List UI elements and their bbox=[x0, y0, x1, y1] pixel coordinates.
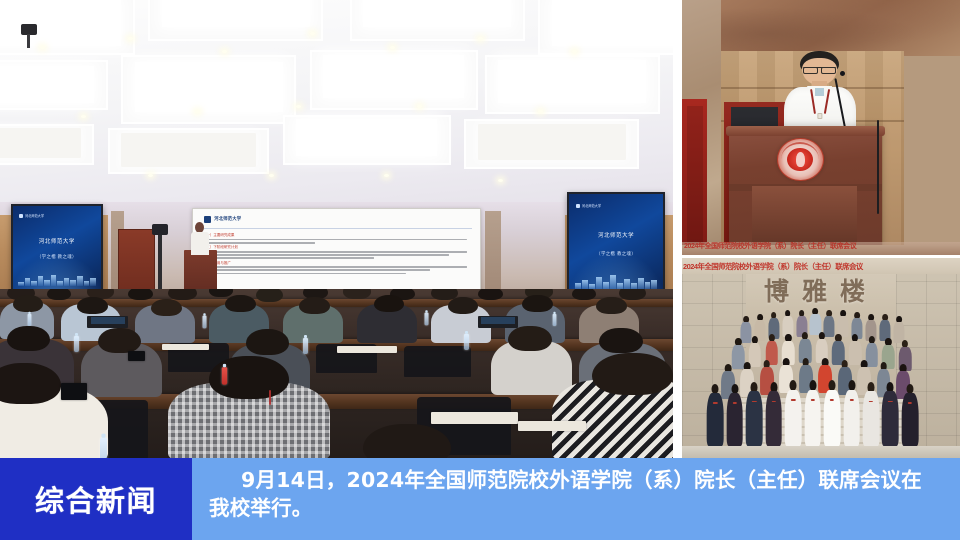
ceiling-light-panel bbox=[135, 62, 283, 112]
water-bottle bbox=[552, 314, 556, 326]
lanyard bbox=[269, 390, 271, 405]
photo-speaker-at-podium: 2024年全国师范院校外语学院（系）院长（主任）联席会议 bbox=[682, 0, 960, 255]
ceiling-spotlight bbox=[478, 37, 483, 40]
chair bbox=[404, 346, 471, 377]
ceiling-spotlight bbox=[384, 174, 389, 177]
audience-member-head bbox=[246, 329, 290, 354]
university-emblem-icon bbox=[777, 138, 824, 181]
audience-member bbox=[572, 289, 596, 301]
group-member-front-row bbox=[882, 382, 899, 444]
paper-document bbox=[162, 344, 209, 350]
screenshot-root: 河北师范大学 （一）主要研究成果 （二）下阶段研究计划 （三）应用与推广 bbox=[0, 0, 960, 540]
ceiling-light-panel bbox=[552, 0, 673, 46]
water-bottle bbox=[424, 312, 428, 325]
audience-member-head bbox=[592, 353, 673, 395]
water-bottle bbox=[28, 314, 32, 326]
audience-member-head bbox=[98, 328, 142, 353]
ceiling-spotlight bbox=[310, 32, 315, 35]
group-member-front-row bbox=[726, 384, 743, 444]
led-screen-left: 河北师范大学 河北师范大学 （学之楷 教之魂） bbox=[11, 204, 103, 293]
emblem-center-device bbox=[787, 148, 812, 171]
audience-seating-area bbox=[0, 289, 673, 458]
led-subtitle: （学之楷 教之魂） bbox=[13, 254, 101, 260]
audience-member bbox=[256, 289, 283, 303]
audience-member bbox=[47, 289, 71, 301]
red-door-frame-far bbox=[682, 99, 707, 255]
ceiling-light-panel bbox=[323, 55, 464, 99]
group-member-front-row bbox=[785, 380, 802, 444]
audience-member-head bbox=[374, 295, 405, 312]
photo-conference-hall: 河北师范大学 （一）主要研究成果 （二）下阶段研究计划 （三）应用与推广 bbox=[0, 0, 673, 458]
slide-text-line bbox=[203, 254, 449, 256]
marble-wall-upper bbox=[721, 0, 960, 56]
group-member-front-row bbox=[824, 380, 841, 444]
ceiling-spotlight bbox=[195, 110, 200, 113]
led-logo-icon bbox=[19, 214, 23, 218]
slide-logo-text: 河北师范大学 bbox=[214, 216, 241, 222]
water-bottle bbox=[74, 336, 79, 352]
slide-divider bbox=[201, 228, 471, 229]
ceiling-light-panel bbox=[0, 66, 94, 103]
audience-member-head bbox=[522, 295, 553, 312]
led-decorative-bars bbox=[18, 272, 96, 286]
audience-member-head bbox=[0, 363, 61, 404]
led-logo-text: 河北师范大学 bbox=[25, 213, 44, 218]
photo-group-on-steps: 博雅楼 2024年全国师范院校外语学院（系）院长（主任）联席会议 bbox=[682, 258, 960, 458]
group-member-front-row bbox=[765, 382, 782, 444]
audience-member bbox=[343, 289, 371, 299]
slide-text-line bbox=[203, 269, 430, 271]
ceiling-light-panel bbox=[0, 128, 81, 158]
news-category-tag: 综合新闻 bbox=[0, 458, 192, 540]
beverage-cup bbox=[222, 367, 228, 385]
led-logo-text: 河北师范大学 bbox=[582, 203, 601, 208]
led-logo: 河北师范大学 bbox=[19, 213, 44, 218]
caption-line-1-text: 9月14日，2024年全国师范院校外语学院（系）院长（主任）联席会议在 bbox=[241, 468, 922, 492]
ceiling-light-panel bbox=[0, 0, 121, 46]
led-screen-right: 河北师范大学 河北师范大学 （学之楷 教之魂） bbox=[567, 192, 665, 297]
plaza-floor bbox=[682, 446, 960, 458]
slide-text-line bbox=[203, 242, 315, 244]
photo-collage: 河北师范大学 （一）主要研究成果 （二）下阶段研究计划 （三）应用与推广 bbox=[0, 0, 960, 458]
audience-member-head bbox=[209, 356, 290, 398]
water-bottle bbox=[303, 338, 308, 354]
slide-text-line bbox=[203, 251, 468, 253]
presenter-body bbox=[191, 232, 210, 256]
audience-member bbox=[209, 289, 233, 297]
caption-line-1: 9月14日，2024年全国师范院校外语学院（系）院长（主任）联席会议在 bbox=[209, 467, 940, 495]
ceiling-light-panel bbox=[478, 124, 626, 161]
laptop bbox=[478, 316, 518, 328]
ceiling-spotlight bbox=[81, 115, 86, 118]
microphone-cable bbox=[877, 120, 879, 214]
audience-member-head bbox=[13, 295, 43, 312]
group-member bbox=[838, 310, 849, 336]
led-title: 河北师范大学 bbox=[569, 231, 663, 239]
group-member-front-row bbox=[746, 382, 763, 444]
audience-member-head bbox=[448, 297, 479, 314]
water-bottle bbox=[202, 316, 206, 329]
led-decorative-bars bbox=[575, 273, 657, 289]
ceiling-projector-icon bbox=[21, 24, 37, 35]
led-subtitle: （学之楷 教之魂） bbox=[569, 251, 663, 257]
laptop bbox=[87, 316, 127, 328]
led-title: 河北师范大学 bbox=[13, 237, 101, 245]
slide-text-line bbox=[203, 273, 406, 275]
audience-member-head bbox=[599, 328, 643, 353]
led-logo: 河北师范大学 bbox=[576, 203, 601, 208]
water-bottle bbox=[100, 438, 107, 458]
paper-document bbox=[518, 421, 585, 431]
slide-text-line bbox=[203, 266, 468, 268]
group-member-front-row bbox=[843, 380, 860, 444]
bottom-banner-text: 2024年全国师范院校外语学院（系）院长（主任）联席会议 bbox=[684, 242, 856, 251]
event-banner-text: 2024年全国师范院校外语学院（系）院长（主任）联席会议 bbox=[682, 261, 863, 272]
ceiling-light-panel bbox=[498, 60, 646, 104]
building-calligraphy: 博雅楼 bbox=[682, 272, 960, 308]
bottom-banner-strip: 2024年全国师范院校外语学院（系）院长（主任）联席会议 bbox=[682, 242, 960, 255]
caption-bar: 综合新闻 9月14日，2024年全国师范院校外语学院（系）院长（主任）联席会议在… bbox=[0, 458, 960, 540]
podium-top-edge bbox=[726, 126, 884, 136]
smartphone bbox=[128, 351, 145, 361]
led-logo-icon bbox=[576, 204, 580, 208]
group-member-front-row bbox=[902, 384, 919, 444]
audience-member-head bbox=[151, 299, 182, 316]
camera-tripod bbox=[158, 229, 161, 298]
group-member-front-row bbox=[804, 380, 821, 444]
ceiling-light-panel bbox=[162, 0, 310, 27]
audience-member-head bbox=[508, 326, 552, 351]
collar-shadow bbox=[815, 88, 824, 96]
ceiling-spotlight bbox=[498, 179, 503, 182]
audience-member-head bbox=[7, 326, 51, 351]
group-member-front-row bbox=[863, 382, 880, 444]
ceiling-light-panel bbox=[121, 133, 256, 167]
audience-member-head bbox=[299, 297, 330, 314]
paper-document bbox=[431, 412, 518, 424]
group-member bbox=[879, 314, 890, 340]
slide-section-heading: （三）应用与推广 bbox=[203, 261, 470, 266]
caption-body: 9月14日，2024年全国师范院校外语学院（系）院长（主任）联席会议在 我校举行… bbox=[192, 458, 960, 540]
audience-member-head bbox=[225, 295, 256, 312]
slide-body: （一）主要研究成果 （二）下阶段研究计划 （三）应用与推广 bbox=[203, 231, 470, 275]
group-member bbox=[782, 310, 793, 336]
caption-line-2: 我校举行。 bbox=[209, 495, 940, 523]
eyeglasses-icon bbox=[803, 67, 836, 71]
slide-section-heading: （二）下阶段研究计划 bbox=[203, 245, 470, 250]
name-badge bbox=[817, 113, 822, 120]
ceiling-light-panel bbox=[296, 119, 437, 156]
hall-presenter bbox=[190, 222, 210, 254]
news-category-label: 综合新闻 bbox=[35, 478, 157, 520]
slide-section-heading: （一）主要研究成果 bbox=[203, 233, 470, 238]
audience-member-head bbox=[77, 297, 108, 314]
slide-text-line bbox=[203, 257, 374, 259]
slide-text-line bbox=[203, 239, 468, 241]
event-banner: 2024年全国师范院校外语学院（系）院长（主任）联席会议 bbox=[682, 258, 960, 274]
water-bottle bbox=[464, 334, 469, 350]
group-member bbox=[893, 316, 904, 342]
audience-member-head bbox=[596, 297, 627, 314]
group-member-front-row bbox=[707, 384, 724, 444]
paper-document bbox=[337, 346, 398, 353]
group-member bbox=[810, 308, 821, 334]
ceiling-light-panel bbox=[363, 0, 511, 27]
ceiling-spotlight bbox=[128, 37, 133, 40]
smartphone bbox=[61, 383, 88, 400]
